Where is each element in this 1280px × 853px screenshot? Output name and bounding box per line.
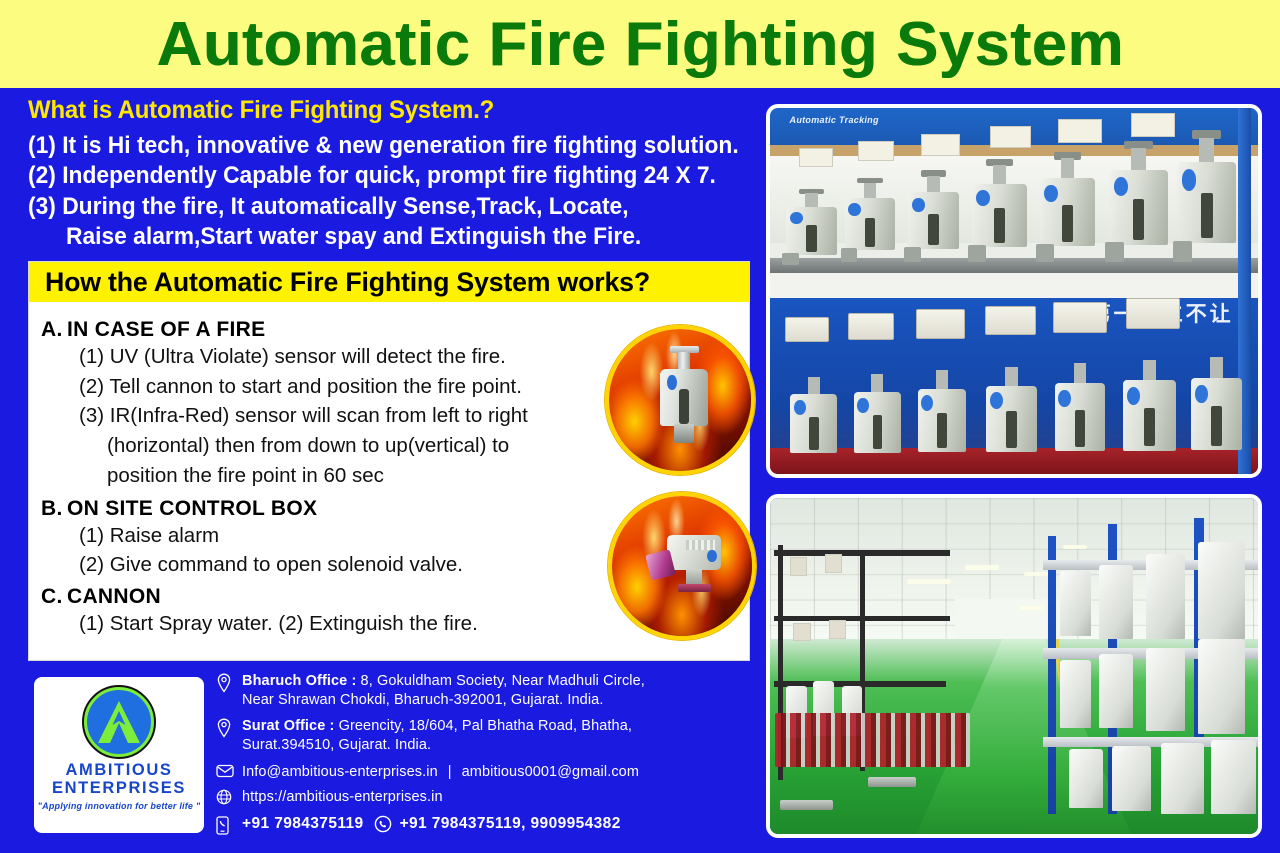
whatsapp-icon (374, 815, 392, 833)
intro-point-2: (2) Independently Capable for quick, pro… (28, 161, 731, 191)
product-display-wall-photo: Automatic Tracking 第一当仁不让 (766, 104, 1262, 478)
bharuch-office-label: Bharuch Office : (242, 673, 356, 689)
contact-row-email[interactable]: Info@ambitious-enterprises.in|ambitious0… (216, 763, 756, 783)
section-a-letter: A. (41, 318, 67, 342)
fire-cannon-device (660, 352, 708, 440)
control-box-circle-image (608, 492, 756, 640)
location-pin-icon (216, 717, 242, 743)
bharuch-office-text: Bharuch Office : 8, Gokuldham Society, N… (242, 672, 645, 710)
logo-name-line2: ENTERPRISES (52, 779, 186, 797)
warehouse-interior-photo (766, 494, 1262, 838)
location-pin-icon (216, 672, 242, 698)
company-logo-card: AMBITIOUS ENTERPRISES "Applying innovati… (34, 677, 204, 833)
surat-office-text: Surat Office : Greencity, 18/604, Pal Bh… (242, 717, 632, 755)
envelope-icon (216, 763, 242, 783)
contact-row-surat: Surat Office : Greencity, 18/604, Pal Bh… (216, 717, 756, 755)
section-b-title: ON SITE CONTROL BOX (67, 497, 317, 520)
intro-point-3-cont: Raise alarm,Start water spay and Extingu… (28, 222, 731, 252)
contact-row-phones[interactable]: +91 7984375119 +91 7984375119, 990995438… (216, 815, 756, 840)
works-banner-text: How the Automatic Fire Fighting System w… (45, 267, 650, 298)
website-url[interactable]: https://ambitious-enterprises.in (242, 788, 443, 807)
whatsapp-numbers[interactable]: +91 7984375119, 9909954382 (400, 815, 621, 833)
logo-company-name: AMBITIOUS ENTERPRISES (52, 762, 186, 798)
phone-numbers: +91 7984375119 +91 7984375119, 990995438… (242, 815, 621, 833)
email-secondary[interactable]: ambitious0001@gmail.com (462, 764, 639, 780)
photo-wall-banner-text: Automatic Tracking (790, 115, 879, 125)
email-text: Info@ambitious-enterprises.in|ambitious0… (242, 763, 639, 782)
page-title: Automatic Fire Fighting System (156, 9, 1124, 80)
globe-icon (216, 788, 242, 810)
surat-office-line2: Surat.394510, Gujarat. India. (242, 736, 632, 755)
section-c-title: CANNON (67, 585, 161, 608)
logo-name-line1: AMBITIOUS (66, 761, 173, 779)
section-c-letter: C. (41, 585, 67, 609)
surat-office-label: Surat Office : (242, 718, 334, 734)
poster-root: Automatic Fire Fighting System What is A… (0, 0, 1280, 853)
right-rack (1043, 518, 1258, 814)
section-b-letter: B. (41, 497, 67, 521)
contact-block: Bharuch Office : 8, Gokuldham Society, N… (216, 672, 756, 847)
intro-question: What is Automatic Fire Fighting System.? (28, 96, 738, 125)
contact-row-website[interactable]: https://ambitious-enterprises.in (216, 788, 756, 810)
phone-number[interactable]: +91 7984375119 (242, 815, 364, 833)
mobile-phone-icon (216, 815, 242, 840)
ambitious-logo-icon (82, 685, 156, 759)
logo-tagline: "Applying innovation for better life " (38, 801, 201, 811)
email-primary[interactable]: Info@ambitious-enterprises.in (242, 764, 438, 780)
intro-point-3: (3) During the fire, It automatically Se… (28, 192, 731, 222)
section-a-title: IN CASE OF A FIRE (67, 318, 265, 341)
fire-cannon-circle-image (605, 325, 755, 475)
bharuch-office-line1: 8, Gokuldham Society, Near Madhuli Circl… (356, 673, 645, 689)
surat-office-line1: Greencity, 18/604, Pal Bhatha Road, Bhat… (334, 718, 632, 734)
intro-point-1: (1) It is Hi tech, innovative & new gene… (28, 131, 731, 161)
works-banner: How the Automatic Fire Fighting System w… (29, 262, 749, 302)
poster-title-band: Automatic Fire Fighting System (0, 0, 1280, 88)
control-box-device (648, 535, 721, 591)
email-separator: | (438, 764, 462, 780)
intro-block: What is Automatic Fire Fighting System.?… (28, 96, 768, 253)
bharuch-office-line2: Near Shrawan Chokdi, Bharuch-392001, Guj… (242, 691, 645, 710)
contact-row-bharuch: Bharuch Office : 8, Gokuldham Society, N… (216, 672, 756, 710)
